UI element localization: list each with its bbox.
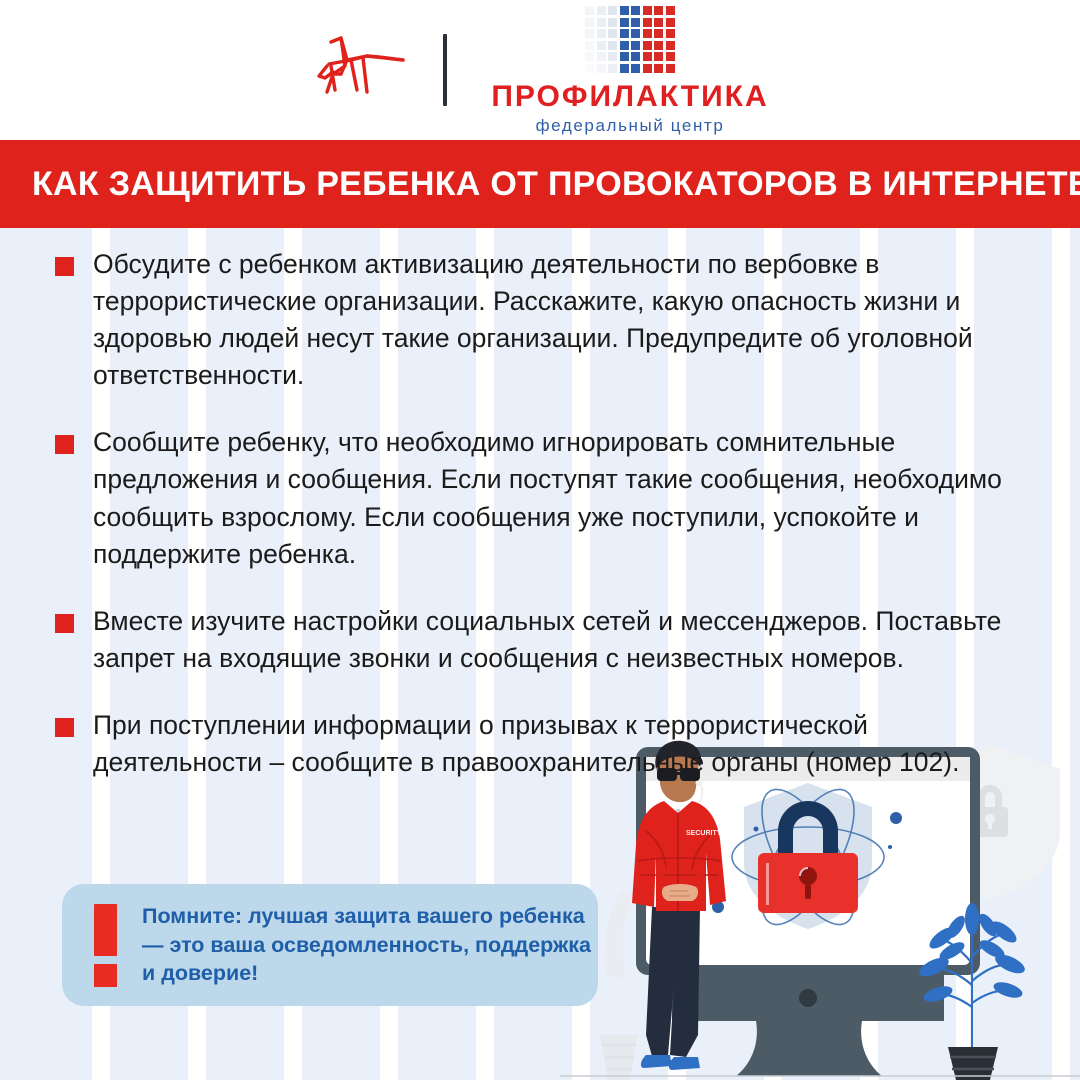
list-item-text: Сообщите ребенку, что необходимо игнорир… bbox=[93, 424, 1015, 572]
title-banner: КАК ЗАЩИТИТЬ РЕБЕНКА ОТ ПРОВОКАТОРОВ В И… bbox=[0, 140, 1080, 228]
bullet-square-icon bbox=[55, 257, 74, 276]
prophylactic-logo: ПРОФИЛАКТИКА федеральный центр bbox=[491, 6, 768, 134]
flag-grid-logo-icon bbox=[585, 6, 675, 73]
header: ПРОФИЛАКТИКА федеральный центр bbox=[0, 0, 1080, 140]
logo-wordmark: ПРОФИЛАКТИКА bbox=[491, 82, 768, 112]
list-item: Обсудите с ребенком активизацию деятельн… bbox=[55, 246, 1015, 394]
callout-text: Помните: лучшая защита вашего ребенка — … bbox=[142, 902, 598, 988]
list-item: Вместе изучите настройки социальных сете… bbox=[55, 603, 1015, 677]
list-item: При поступлении информации о призывах к … bbox=[55, 707, 1015, 781]
background-plant-silhouette bbox=[600, 890, 638, 1080]
advice-list: Обсудите с ребенком активизацию деятельн… bbox=[55, 246, 1015, 811]
guard-badge-text: SECURITY bbox=[686, 830, 722, 837]
list-item: Сообщите ребенку, что необходимо игнорир… bbox=[55, 424, 1015, 572]
list-item-text: Вместе изучите настройки социальных сете… bbox=[93, 603, 1015, 677]
chair-mark-icon bbox=[311, 30, 407, 110]
logo-subtitle: федеральный центр bbox=[536, 117, 725, 134]
bullet-square-icon bbox=[55, 435, 74, 454]
header-divider bbox=[443, 34, 447, 106]
plant-pot bbox=[948, 1047, 998, 1080]
exclamation-mark-icon bbox=[92, 904, 118, 987]
bullet-square-icon bbox=[55, 614, 74, 633]
page-title: КАК ЗАЩИТИТЬ РЕБЕНКА ОТ ПРОВОКАТОРОВ В И… bbox=[0, 165, 1080, 204]
list-item-text: Обсудите с ребенком активизацию деятельн… bbox=[93, 246, 1015, 394]
bullet-square-icon bbox=[55, 718, 74, 737]
infographic-poster: ПРОФИЛАКТИКА федеральный центр КАК ЗАЩИТ… bbox=[0, 0, 1080, 1080]
reminder-callout: Помните: лучшая защита вашего ребенка — … bbox=[62, 884, 598, 1006]
list-item-text: При поступлении информации о призывах к … bbox=[93, 707, 1015, 781]
